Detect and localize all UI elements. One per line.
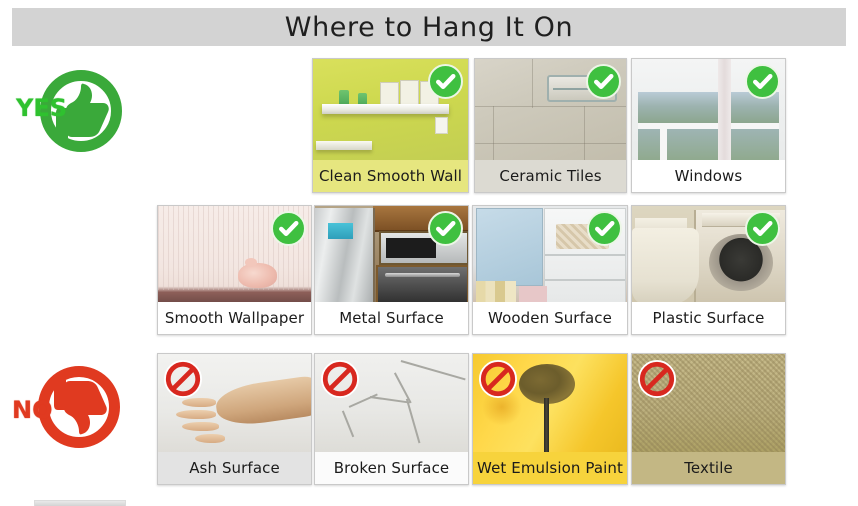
surface-card-ash-surface[interactable]: Ash Surface	[157, 353, 312, 485]
surface-card-wooden-surface[interactable]: Wooden Surface	[472, 205, 628, 335]
card-caption: Smooth Wallpaper	[158, 302, 311, 334]
card-caption-text: Wet Emulsion Paint	[477, 459, 623, 477]
page-title: Where to Hang It On	[285, 12, 573, 43]
page-bottom-edge-artifact	[34, 500, 126, 506]
surface-card-metal-surface[interactable]: Metal Surface	[314, 205, 469, 335]
surface-card-broken-surface[interactable]: Broken Surface	[314, 353, 469, 485]
surface-card-textile[interactable]: Textile	[631, 353, 786, 485]
card-caption-text: Metal Surface	[339, 309, 444, 327]
surface-card-windows[interactable]: Windows	[631, 58, 786, 193]
green-check-icon	[586, 64, 621, 99]
surface-card-ceramic-tiles[interactable]: Ceramic Tiles	[474, 58, 627, 193]
card-caption-text: Smooth Wallpaper	[165, 309, 304, 327]
verdict-badge-no: NO	[4, 358, 144, 468]
green-check-icon	[428, 64, 463, 99]
red-prohibition-icon	[479, 360, 517, 398]
red-prohibition-icon	[321, 360, 359, 398]
card-caption: Clean Smooth Wall	[313, 160, 468, 192]
card-caption-text: Clean Smooth Wall	[319, 167, 462, 185]
card-caption: Ceramic Tiles	[475, 160, 626, 192]
surface-card-wet-emulsion-paint[interactable]: Wet Emulsion Paint	[472, 353, 628, 485]
card-caption-text: Textile	[684, 459, 733, 477]
page-title-banner: Where to Hang It On	[12, 8, 846, 46]
verdict-label-no: NO	[12, 396, 53, 424]
surface-card-clean-smooth-wall[interactable]: Clean Smooth Wall	[312, 58, 469, 193]
card-caption-text: Windows	[675, 167, 743, 185]
red-prohibition-icon	[164, 360, 202, 398]
verdict-badge-yes: YES	[6, 62, 146, 172]
card-caption: Wooden Surface	[473, 302, 627, 334]
green-check-icon	[428, 211, 463, 246]
surface-card-plastic-surface[interactable]: Plastic Surface	[631, 205, 786, 335]
red-prohibition-icon	[638, 360, 676, 398]
card-caption: Ash Surface	[158, 452, 311, 484]
green-check-icon	[745, 64, 780, 99]
verdict-label-yes: YES	[16, 94, 67, 122]
card-caption: Wet Emulsion Paint	[473, 452, 627, 484]
card-caption: Plastic Surface	[632, 302, 785, 334]
green-check-icon	[745, 211, 780, 246]
card-caption-text: Wooden Surface	[488, 309, 612, 327]
green-check-icon	[271, 211, 306, 246]
card-caption: Broken Surface	[315, 452, 468, 484]
card-caption: Textile	[632, 452, 785, 484]
card-caption-text: Broken Surface	[334, 459, 450, 477]
card-caption-text: Ash Surface	[189, 459, 280, 477]
card-caption: Metal Surface	[315, 302, 468, 334]
card-caption-text: Ceramic Tiles	[499, 167, 601, 185]
card-caption-text: Plastic Surface	[653, 309, 765, 327]
card-caption: Windows	[632, 160, 785, 192]
green-check-icon	[587, 211, 622, 246]
surface-card-smooth-wallpaper[interactable]: Smooth Wallpaper	[157, 205, 312, 335]
